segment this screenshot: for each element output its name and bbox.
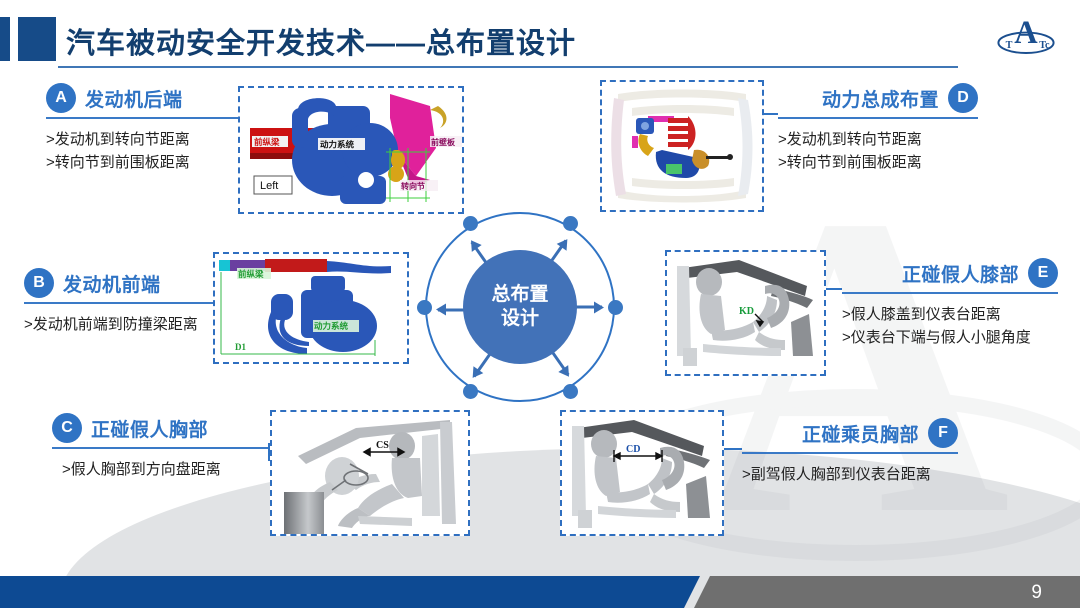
svg-text:CS: CS [376, 440, 389, 451]
hub-node-w [417, 300, 432, 315]
section-e: E 正碰假人膝部 >假人膝盖到仪表台距离 >仪表台下端与假人小腿角度 [842, 258, 1058, 350]
hub-node-nw [463, 216, 478, 231]
svg-text:KD: KD [739, 306, 754, 317]
section-b-rule [24, 302, 242, 304]
footer-gray-band [694, 576, 1080, 608]
header-accent-bar-small [0, 17, 10, 61]
section-d-title: 动力总成布置 [822, 85, 939, 112]
section-a-title: 发动机后端 [85, 85, 183, 112]
section-c-title: 正碰假人胸部 [91, 415, 208, 442]
svg-text:CD: CD [626, 444, 640, 455]
section-f-rule [742, 452, 958, 454]
section-c-rule [52, 447, 270, 449]
section-c: C 正碰假人胸部 >假人胸部到方向盘距离 [52, 413, 270, 481]
section-f-bullets: >副驾假人胸部到仪表台距离 [742, 463, 958, 486]
svg-text:前纵梁: 前纵梁 [254, 137, 280, 148]
section-d-badge: D [948, 83, 978, 113]
page-title: 汽车被动安全开发技术——总布置设计 [66, 20, 576, 62]
hub-core-line1: 总布置 [491, 283, 548, 307]
section-f: F 正碰乘员胸部 >副驾假人胸部到仪表台距离 [742, 418, 958, 486]
hub-node-e [608, 300, 623, 315]
section-f-bullet-1: >副驾假人胸部到仪表台距离 [742, 463, 958, 486]
svg-text:Left: Left [260, 180, 278, 192]
hub-node-sw [463, 384, 478, 399]
svg-text:动力系统: 动力系统 [320, 140, 355, 151]
section-b-badge: B [24, 268, 54, 298]
section-a-header: A 发动机后端 [46, 83, 242, 113]
section-e-header: E 正碰假人膝部 [842, 258, 1058, 288]
section-a-bullet-2: >转向节到前围板距离 [46, 151, 242, 174]
footer-blue-band [0, 576, 700, 608]
svg-text:前壁板: 前壁板 [431, 137, 456, 147]
section-a: A 发动机后端 >发动机到转向节距离 >转向节到前围板距离 [46, 83, 242, 175]
hub-node-ne [563, 216, 578, 231]
hub-node-se [563, 384, 578, 399]
panel-driver-knee: KD [665, 250, 826, 376]
panel-passenger-chest: CD [560, 410, 724, 536]
panel-engine-rear: 前纵梁 动力系统 转向节 前壁板 Left [238, 86, 464, 214]
header-accent-bar-large [18, 17, 56, 61]
panel-engine-front: 前纵梁 动力系统 D1 [213, 252, 409, 364]
section-d-bullet-2: >转向节到前围板距离 [778, 151, 978, 174]
svg-text:Tc: Tc [1039, 40, 1050, 51]
section-b: B 发动机前端 >发动机前端到防撞梁距离 [24, 268, 242, 336]
section-c-badge: C [52, 413, 82, 443]
svg-text:前纵梁: 前纵梁 [238, 269, 264, 280]
svg-text:T: T [1006, 40, 1013, 51]
section-d-header: D 动力总成布置 [778, 83, 978, 113]
section-f-title: 正碰乘员胸部 [802, 420, 919, 447]
section-e-title: 正碰假人膝部 [902, 260, 1019, 287]
svg-text:动力系统: 动力系统 [314, 321, 349, 332]
section-d: D 动力总成布置 >发动机到转向节距离 >转向节到前围板距离 [778, 83, 978, 175]
section-b-bullets: >发动机前端到防撞梁距离 [24, 313, 242, 336]
section-a-bullet-1: >发动机到转向节距离 [46, 128, 242, 151]
section-f-badge: F [928, 418, 958, 448]
svg-text:转向节: 转向节 [401, 181, 425, 191]
section-c-bullets: >假人胸部到方向盘距离 [52, 458, 270, 481]
central-hub-diagram: 总布置 设计 [425, 212, 615, 402]
section-b-title: 发动机前端 [63, 270, 161, 297]
hub-core-label: 总布置 设计 [463, 250, 577, 364]
section-e-badge: E [1028, 258, 1058, 288]
slide: A 汽车被动安全开发技术——总布置设计 A T Tc 总布置 设计 [0, 0, 1080, 608]
section-e-bullet-2: >仪表台下端与假人小腿角度 [842, 326, 1058, 349]
section-a-bullets: >发动机到转向节距离 >转向节到前围板距离 [46, 128, 242, 175]
tatc-logo-icon: A T Tc [990, 8, 1062, 62]
section-e-bullets: >假人膝盖到仪表台距离 >仪表台下端与假人小腿角度 [842, 303, 1058, 350]
panel-powertrain-layout [600, 80, 764, 212]
svg-text:D1: D1 [235, 342, 246, 352]
section-a-badge: A [46, 83, 76, 113]
header-divider [58, 66, 958, 68]
section-b-bullet-1: >发动机前端到防撞梁距离 [24, 313, 242, 336]
section-e-rule [842, 292, 1058, 294]
hub-core-line2: 设计 [501, 307, 539, 331]
section-b-header: B 发动机前端 [24, 268, 242, 298]
page-number: 9 [1031, 582, 1042, 604]
section-c-bullet-1: >假人胸部到方向盘距离 [62, 458, 270, 481]
section-d-bullet-1: >发动机到转向节距离 [778, 128, 978, 151]
section-d-bullets: >发动机到转向节距离 >转向节到前围板距离 [778, 128, 978, 175]
section-f-header: F 正碰乘员胸部 [742, 418, 958, 448]
section-c-header: C 正碰假人胸部 [52, 413, 270, 443]
section-a-rule [46, 117, 242, 119]
section-d-rule [778, 117, 978, 119]
section-e-bullet-1: >假人膝盖到仪表台距离 [842, 303, 1058, 326]
panel-driver-chest: CS [270, 410, 470, 536]
